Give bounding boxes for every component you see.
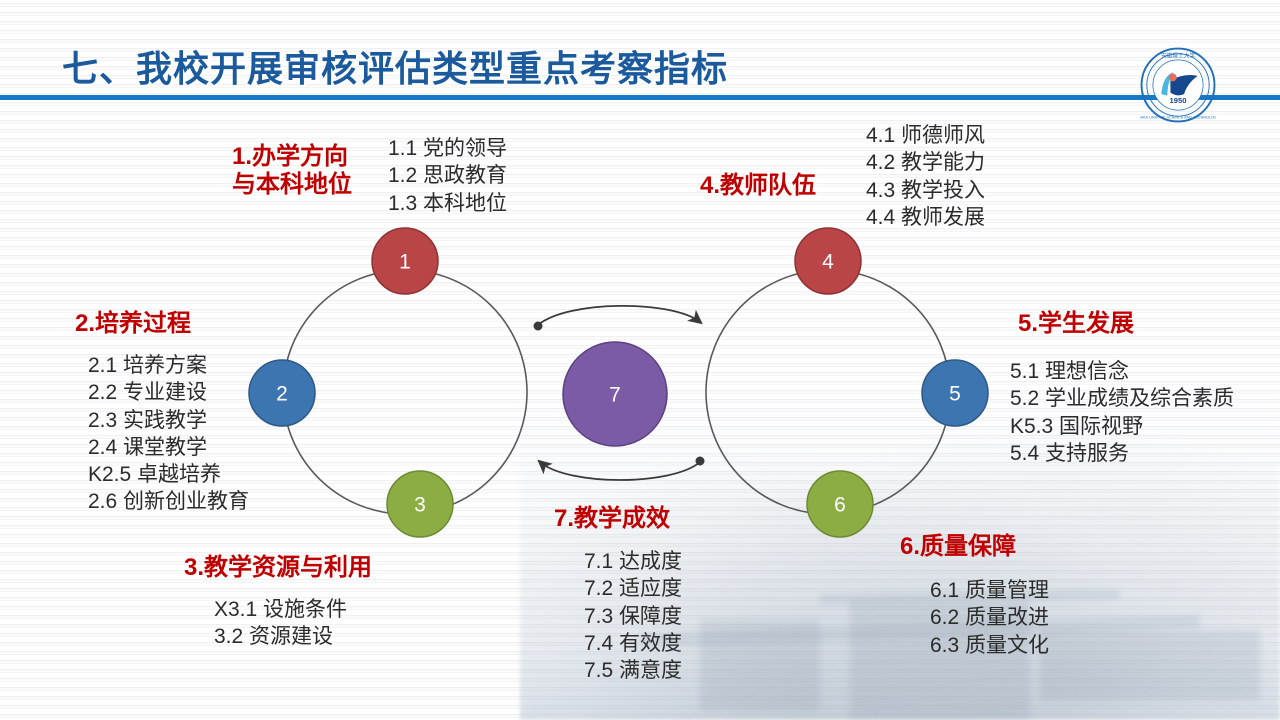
list-item: 1.3 本科地位 bbox=[388, 190, 507, 217]
section-6-heading: 6.质量保障 bbox=[900, 533, 1016, 561]
list-item: K5.3 国际视野 bbox=[1010, 413, 1234, 440]
node-7-label: 7 bbox=[609, 384, 621, 407]
section-2-heading: 2.培养过程 bbox=[75, 310, 191, 338]
list-item: 1.1 党的领导 bbox=[388, 135, 507, 162]
section-4-heading: 4.教师队伍 bbox=[700, 172, 816, 200]
connector-arrow-top bbox=[538, 306, 700, 325]
node-3-label: 3 bbox=[414, 494, 426, 517]
node-7[interactable]: 7 bbox=[563, 342, 667, 446]
list-item: 4.3 教学投入 bbox=[866, 177, 985, 204]
node-2-label: 2 bbox=[276, 383, 288, 406]
section-1-heading-line-2: 与本科地位 bbox=[232, 171, 352, 199]
section-2-items: 2.1 培养方案 2.2 专业建设 2.3 实践教学 2.4 课堂教学 K2.5… bbox=[88, 352, 249, 516]
list-item: 3.2 资源建设 bbox=[214, 623, 347, 650]
page-title: 七、我校开展审核评估类型重点考察指标 bbox=[62, 40, 728, 92]
list-item: 7.1 达成度 bbox=[584, 548, 682, 575]
node-1-label: 1 bbox=[399, 251, 411, 274]
node-4[interactable]: 4 bbox=[795, 228, 861, 294]
node-6[interactable]: 6 bbox=[807, 471, 873, 537]
list-item: 7.3 保障度 bbox=[584, 603, 682, 630]
list-item: X3.1 设施条件 bbox=[214, 596, 347, 623]
list-item: 4.2 教学能力 bbox=[866, 149, 985, 176]
list-item: 1.2 思政教育 bbox=[388, 162, 507, 189]
list-item: 5.2 学业成绩及综合素质 bbox=[1010, 385, 1234, 412]
section-1-heading-line-1: 1.办学方向 bbox=[232, 143, 352, 171]
slide-canvas: 七、我校开展审核评估类型重点考察指标 1950 安徽理工大学 ANHUI UNI… bbox=[0, 0, 1280, 720]
node-5-label: 5 bbox=[949, 383, 961, 406]
section-5-items: 5.1 理想信念 5.2 学业成绩及综合素质 K5.3 国际视野 5.4 支持服… bbox=[1010, 358, 1234, 467]
node-1[interactable]: 1 bbox=[372, 228, 438, 294]
connector-bottom-dot bbox=[696, 457, 705, 466]
node-2[interactable]: 2 bbox=[249, 360, 315, 426]
section-4-items: 4.1 师德师风 4.2 教学能力 4.3 教学投入 4.4 教师发展 bbox=[866, 122, 985, 231]
list-item: 2.1 培养方案 bbox=[88, 352, 249, 379]
connector-top-dot bbox=[534, 322, 543, 331]
section-5-heading: 5.学生发展 bbox=[1018, 310, 1134, 338]
list-item: 5.1 理想信念 bbox=[1010, 358, 1234, 385]
node-4-label: 4 bbox=[822, 251, 834, 274]
list-item: 7.2 适应度 bbox=[584, 575, 682, 602]
list-item: 7.4 有效度 bbox=[584, 630, 682, 657]
list-item: 2.3 实践教学 bbox=[88, 407, 249, 434]
list-item: 2.4 课堂教学 bbox=[88, 434, 249, 461]
list-item: K2.5 卓越培养 bbox=[88, 461, 249, 488]
list-item: 6.2 质量改进 bbox=[930, 604, 1049, 631]
section-3-heading: 3.教学资源与利用 bbox=[184, 554, 372, 582]
connector-arrow-bottom bbox=[540, 462, 700, 480]
section-7-heading: 7.教学成效 bbox=[554, 505, 670, 533]
node-6-label: 6 bbox=[834, 494, 846, 517]
list-item: 2.2 专业建设 bbox=[88, 379, 249, 406]
section-3-items: X3.1 设施条件 3.2 资源建设 bbox=[214, 596, 347, 651]
list-item: 6.1 质量管理 bbox=[930, 577, 1049, 604]
list-item: 5.4 支持服务 bbox=[1010, 440, 1234, 467]
section-1-heading: 1.办学方向 与本科地位 bbox=[232, 143, 352, 200]
node-5[interactable]: 5 bbox=[922, 360, 988, 426]
section-7-items: 7.1 达成度 7.2 适应度 7.3 保障度 7.4 有效度 7.5 满意度 bbox=[584, 548, 682, 684]
node-3[interactable]: 3 bbox=[387, 471, 453, 537]
section-1-items: 1.1 党的领导 1.2 思政教育 1.3 本科地位 bbox=[388, 135, 507, 217]
list-item: 4.4 教师发展 bbox=[866, 204, 985, 231]
list-item: 7.5 满意度 bbox=[584, 657, 682, 684]
list-item: 2.6 创新创业教育 bbox=[88, 488, 249, 515]
list-item: 6.3 质量文化 bbox=[930, 632, 1049, 659]
svg-text:安徽理工大学: 安徽理工大学 bbox=[1161, 52, 1195, 60]
list-item: 4.1 师德师风 bbox=[866, 122, 985, 149]
section-6-items: 6.1 质量管理 6.2 质量改进 6.3 质量文化 bbox=[930, 577, 1049, 659]
